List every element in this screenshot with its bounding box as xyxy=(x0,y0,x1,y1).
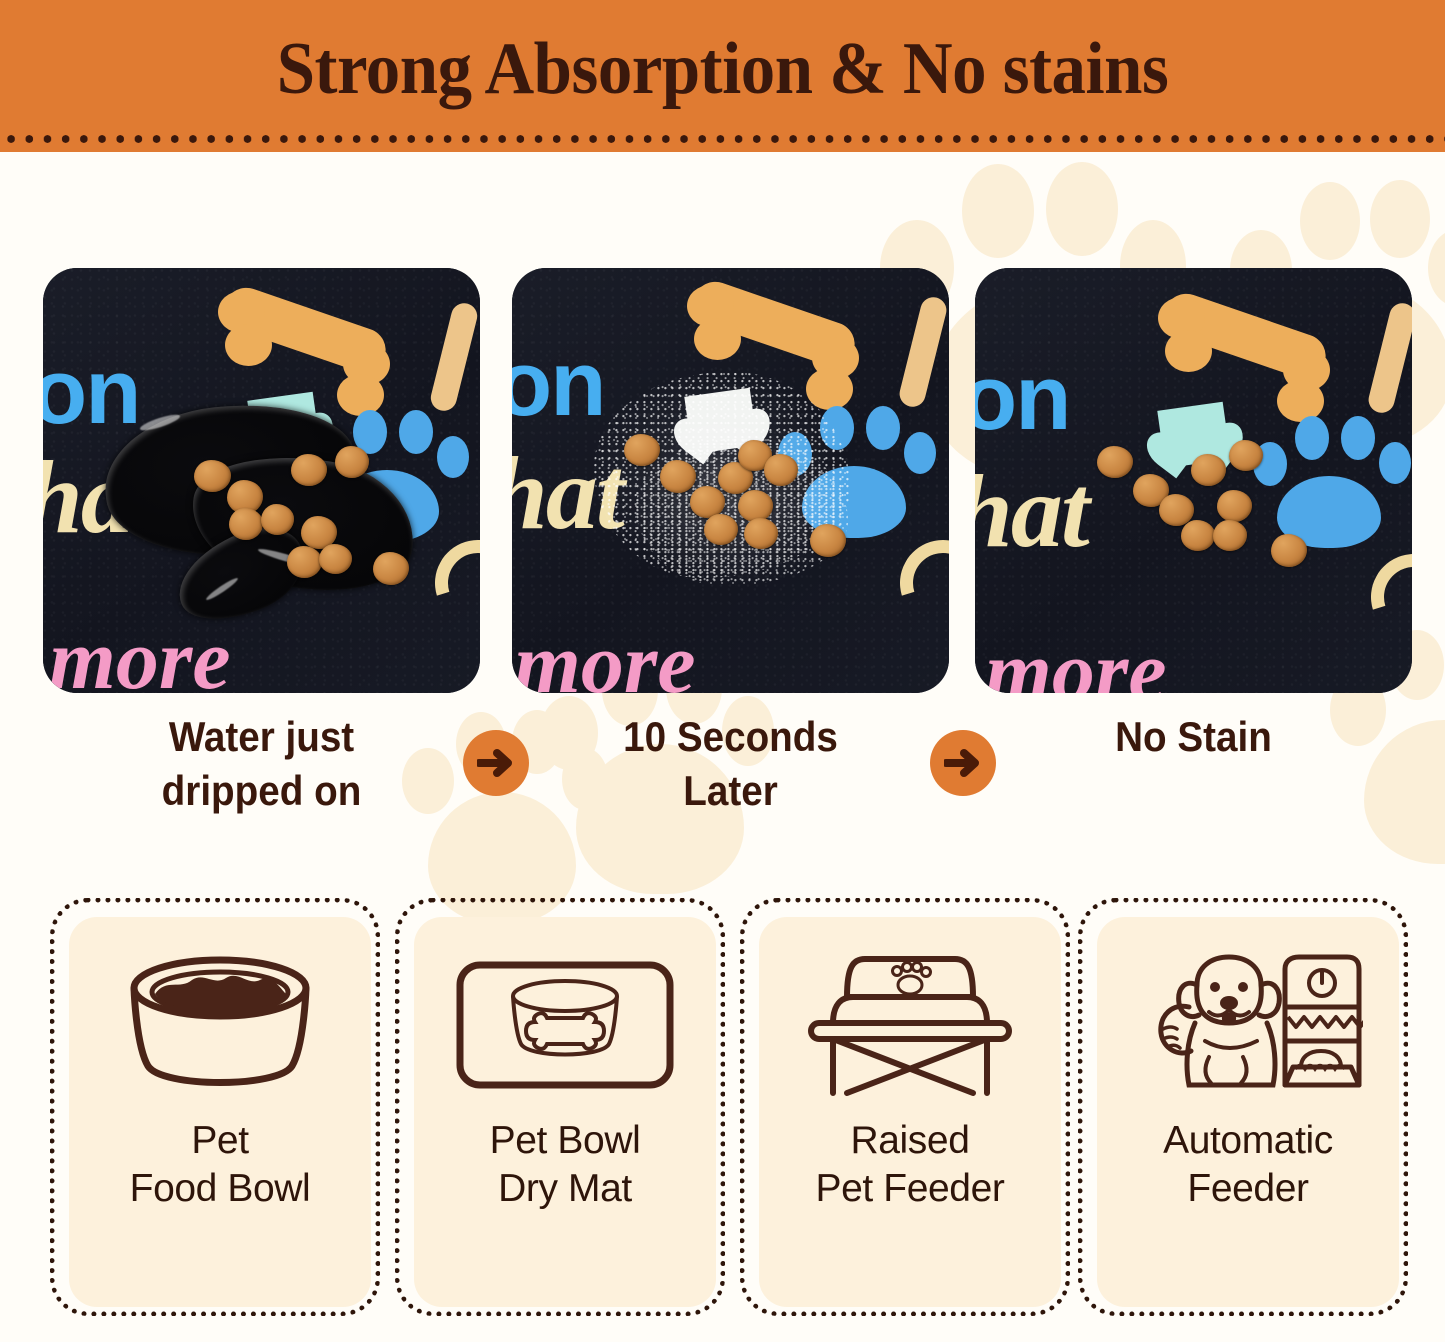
paw-print-graphic xyxy=(1253,414,1412,548)
kibble-piece xyxy=(738,490,773,522)
bone-knob xyxy=(1165,330,1212,372)
kibble-piece xyxy=(624,434,660,466)
mat-tail-graphic xyxy=(897,295,949,410)
demo-caption-step-2: 10 Seconds Later xyxy=(529,710,931,818)
demo-caption-step-3: No Stain xyxy=(992,710,1394,764)
arrow-right-icon xyxy=(463,730,529,796)
mat-word-hat: hat xyxy=(975,460,1088,564)
kibble-piece xyxy=(291,454,327,486)
demo-photo-step-3: on hat more xyxy=(975,268,1412,693)
absorption-demo-row: on hat more xyxy=(0,268,1445,693)
kibble-piece xyxy=(1271,534,1307,567)
header-dotted-divider xyxy=(0,133,1445,145)
demo-photo-step-1: on hat more xyxy=(43,268,480,693)
mat-swirl-graphic xyxy=(885,525,949,641)
use-case-cards-row: Pet Food Bowl Pet Bowl Dry Mat xyxy=(0,898,1445,1318)
kibble-piece xyxy=(319,544,352,574)
demo-caption-step-1: Water just dripped on xyxy=(60,710,462,818)
use-case-label: Automatic Feeder xyxy=(1163,1117,1333,1212)
pet-food-bowl-icon xyxy=(69,917,371,1117)
bone-knob xyxy=(225,324,272,366)
kibble-piece xyxy=(1213,520,1247,551)
kibble-piece xyxy=(1191,454,1226,486)
use-case-card-raised-pet-feeder[interactable]: Raised Pet Feeder xyxy=(740,898,1070,1316)
kibble-piece xyxy=(287,546,322,578)
mat-word-on: on xyxy=(975,352,1069,444)
demo-photo-step-2: on hat more xyxy=(512,268,949,693)
pet-bowl-dry-mat-icon xyxy=(414,917,716,1117)
kibble-piece xyxy=(261,504,294,535)
mat-word-on: on xyxy=(43,346,139,438)
use-case-card-automatic-feeder[interactable]: Automatic Feeder xyxy=(1078,898,1408,1316)
kibble-piece xyxy=(810,524,846,557)
pet-mat-surface: on hat more xyxy=(975,268,1412,693)
kibble-piece xyxy=(1097,446,1133,478)
bone-knob xyxy=(694,318,741,360)
mat-word-more: more xyxy=(985,628,1167,693)
kibble-piece xyxy=(660,460,696,493)
mat-word-on: on xyxy=(512,338,604,430)
kibble-piece xyxy=(194,460,231,492)
page-title: Strong Absorption & No stains xyxy=(51,0,1395,138)
arrow-right-icon xyxy=(930,730,996,796)
mat-swirl-graphic xyxy=(1356,539,1412,655)
mat-swirl-graphic xyxy=(420,525,480,641)
kibble-piece xyxy=(1181,520,1215,551)
use-case-label: Raised Pet Feeder xyxy=(816,1117,1005,1212)
use-case-label: Pet Food Bowl xyxy=(130,1117,311,1212)
kibble-piece xyxy=(1229,440,1263,471)
kibble-piece xyxy=(764,454,798,486)
kibble-piece xyxy=(1217,490,1252,522)
kibble-piece xyxy=(335,446,369,478)
kibble-piece xyxy=(373,552,409,585)
header-banner: Strong Absorption & No stains xyxy=(0,0,1445,152)
mat-tail-graphic xyxy=(428,300,480,413)
raised-pet-feeder-icon xyxy=(759,917,1061,1117)
pet-mat-surface: on hat more xyxy=(43,268,480,693)
kibble-piece xyxy=(704,514,738,545)
mat-word-more: more xyxy=(49,616,231,693)
use-case-card-pet-food-bowl[interactable]: Pet Food Bowl xyxy=(50,898,380,1316)
use-case-label: Pet Bowl Dry Mat xyxy=(490,1117,641,1212)
automatic-feeder-icon xyxy=(1097,917,1399,1117)
mat-tail-graphic xyxy=(1366,301,1412,416)
mat-word-more: more xyxy=(514,620,696,693)
kibble-piece xyxy=(744,518,778,549)
use-case-card-pet-bowl-dry-mat[interactable]: Pet Bowl Dry Mat xyxy=(395,898,725,1316)
pet-mat-surface: on hat more xyxy=(512,268,949,693)
kibble-piece xyxy=(229,508,263,540)
